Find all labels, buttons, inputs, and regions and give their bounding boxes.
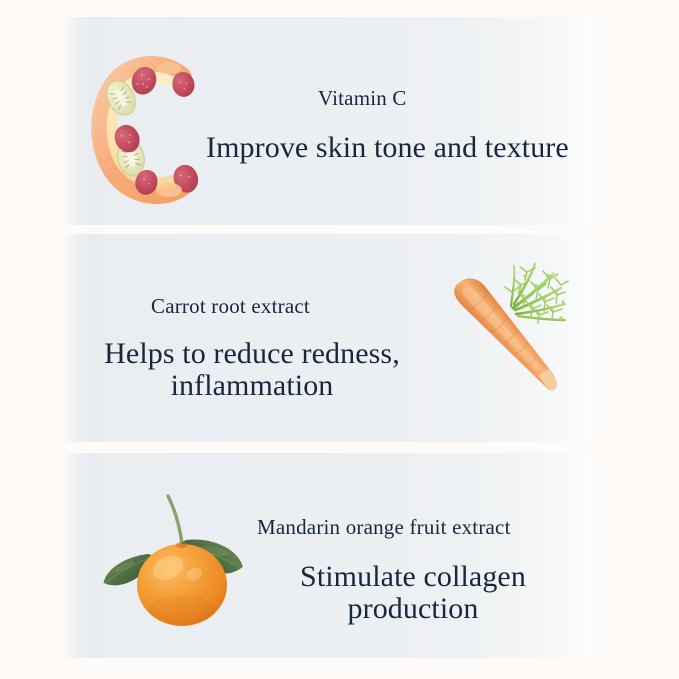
ingredient-name-vitamin-c: Vitamin C	[318, 86, 407, 111]
vitamin-c-fruit-letter-icon	[95, 52, 200, 204]
ingredient-name-carrot: Carrot root extract	[151, 294, 310, 319]
benefit-text-vitamin-c: Improve skin tone and texture	[206, 132, 569, 164]
ingredient-name-mandarin: Mandarin orange fruit extract	[257, 515, 511, 540]
benefit-text-carrot: Helps to reduce redness, inflammation	[92, 338, 412, 403]
benefit-text-mandarin: Stimulate collagen production	[283, 561, 543, 626]
mandarin-orange-icon	[100, 482, 275, 632]
infographic-root: Vitamin C Improve skin tone and texture	[0, 0, 679, 679]
